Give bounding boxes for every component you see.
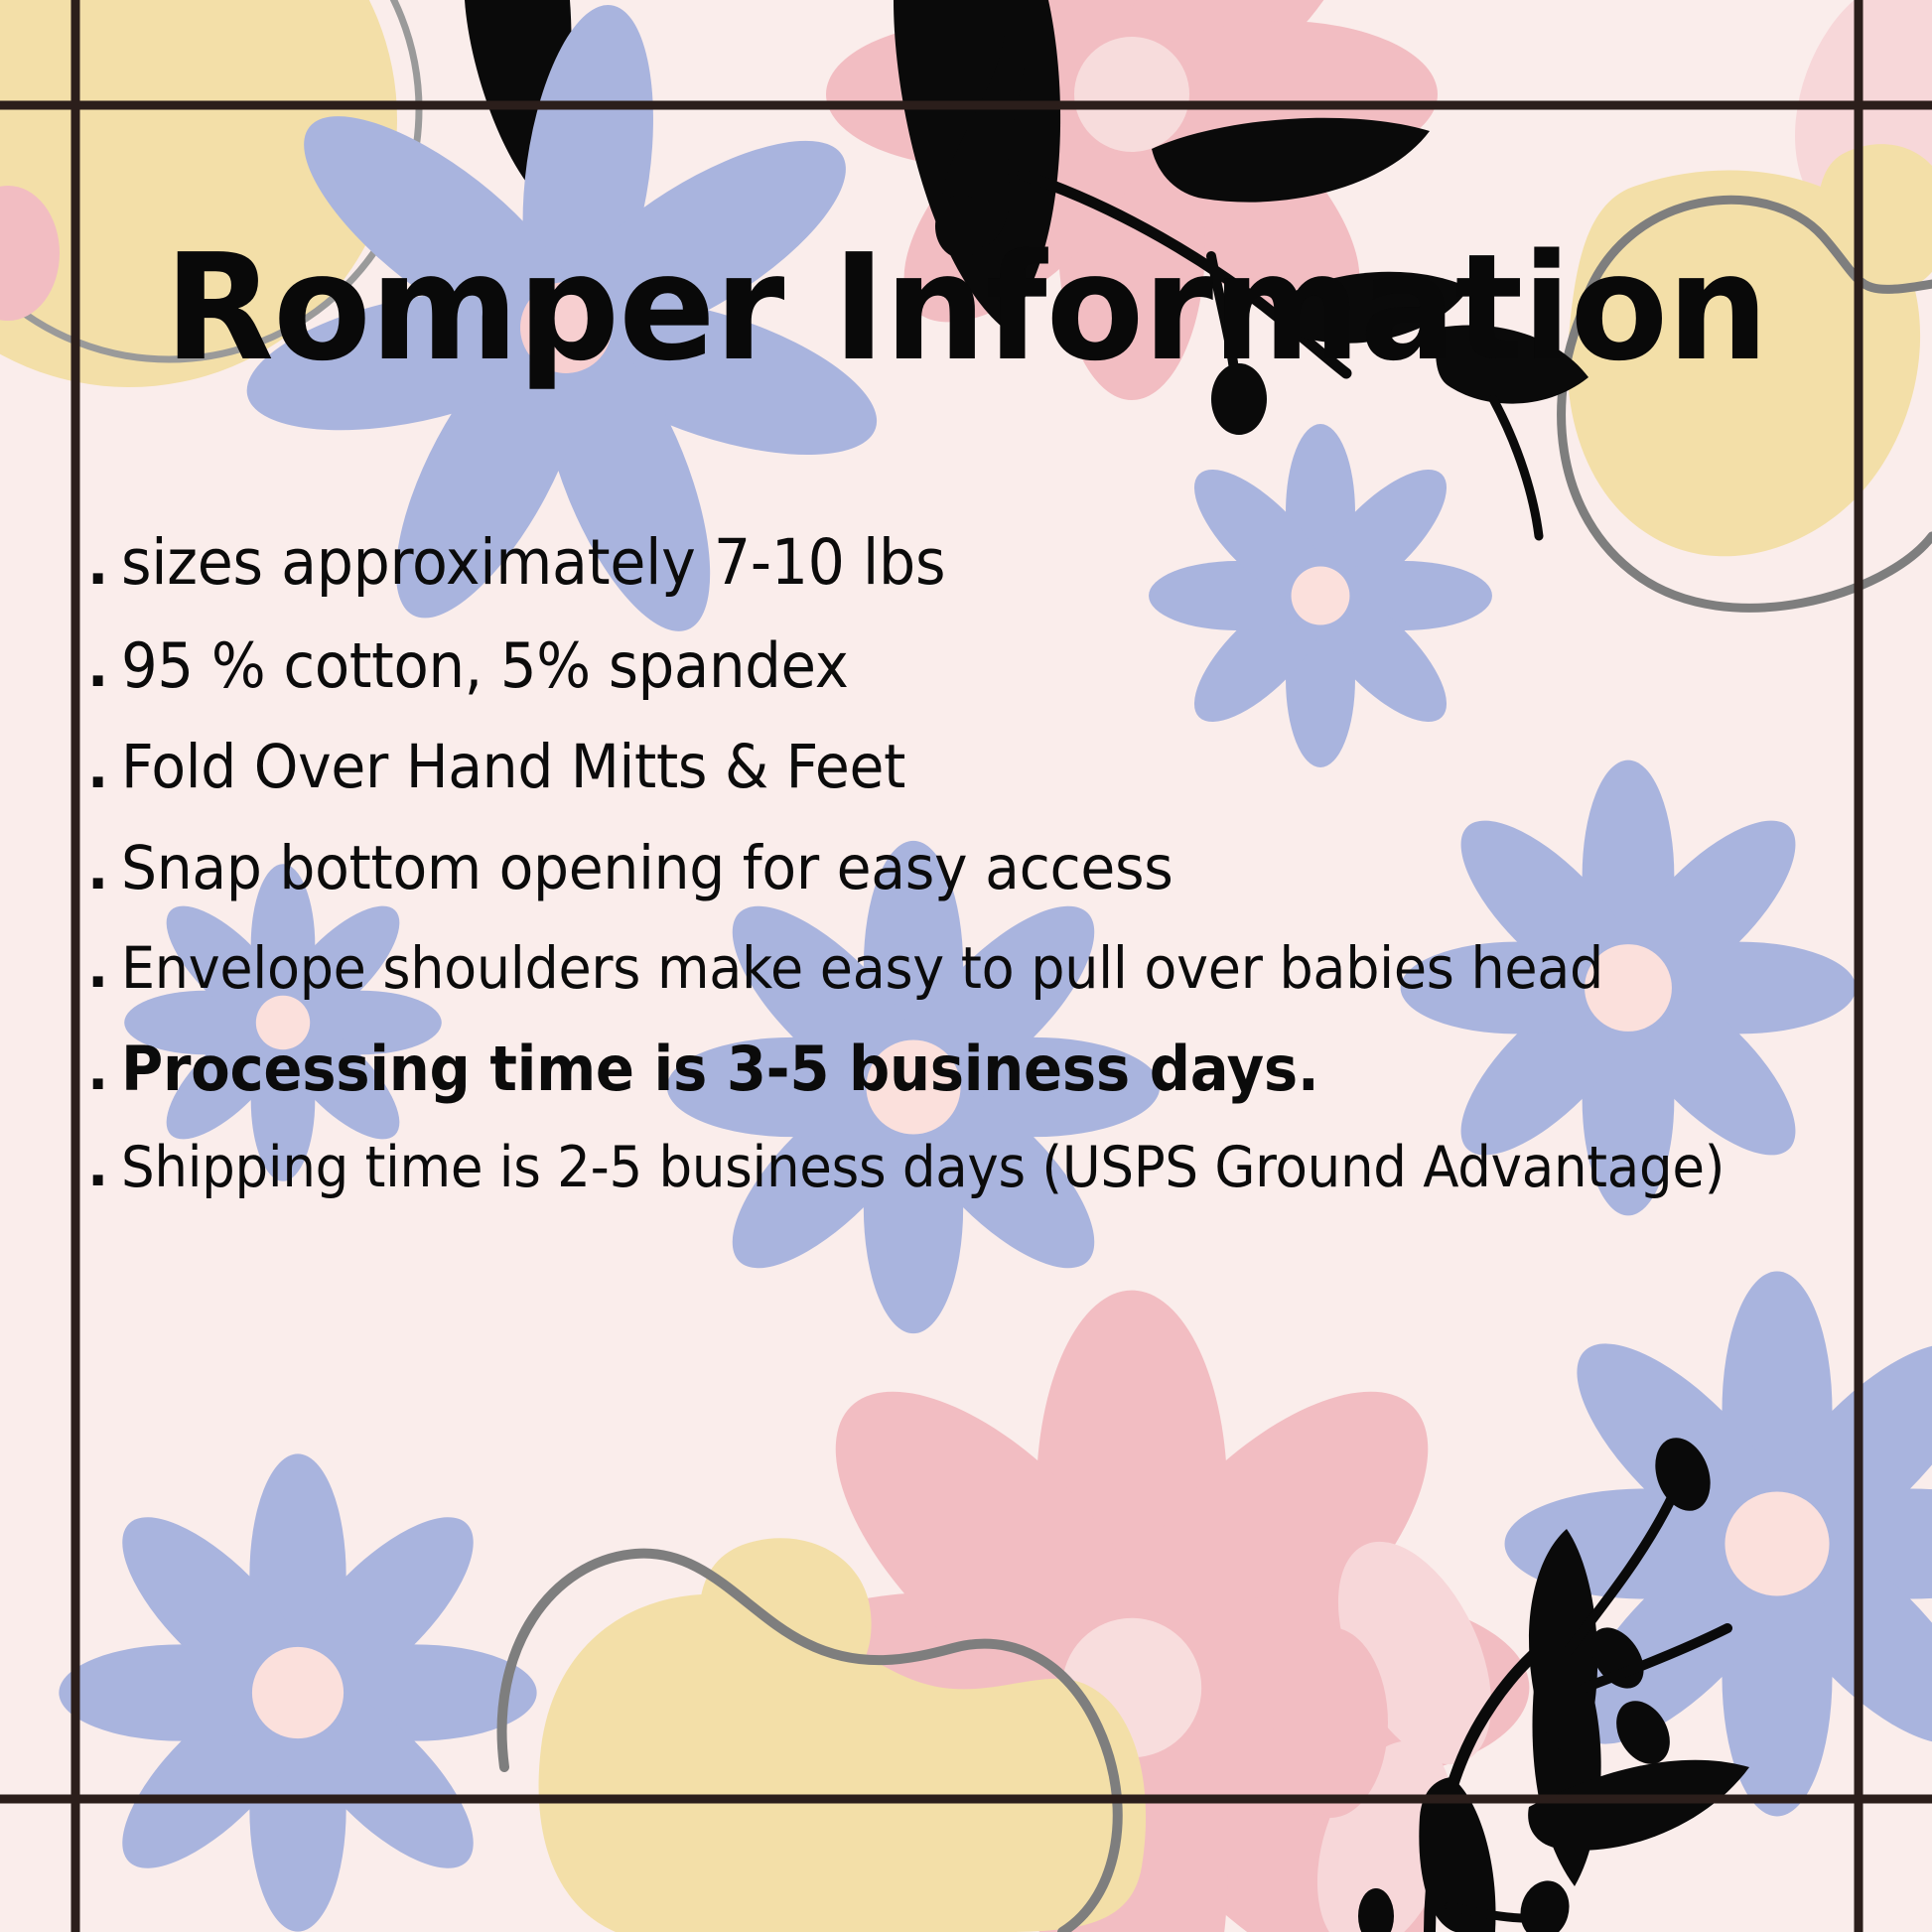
page-title: Romper Information xyxy=(29,234,1903,381)
romper-details-list: . sizes approximately 7-10 lbs . 95 % co… xyxy=(87,526,1874,1231)
list-item-label: Snap bottom opening for easy access xyxy=(121,833,1173,904)
bullet-marker-icon: . xyxy=(87,1140,121,1201)
list-item-label: Envelope shoulders make easy to pull ove… xyxy=(121,934,1603,1002)
list-item-label: sizes approximately 7-10 lbs xyxy=(121,526,945,600)
bullet-marker-icon: . xyxy=(87,538,121,600)
bullet-marker-icon: . xyxy=(87,640,121,702)
romper-information-poster: Romper Information . sizes approximately… xyxy=(0,0,1932,1932)
bullet-marker-icon: . xyxy=(87,941,121,1003)
list-item-label: Shipping time is 2-5 business days (USPS… xyxy=(121,1135,1725,1201)
list-item-label: 95 % cotton, 5% spandex xyxy=(121,629,849,702)
bullet-marker-icon: . xyxy=(87,843,121,904)
list-item: . 95 % cotton, 5% spandex xyxy=(87,629,1874,702)
list-item-label: Processing time is 3-5 business days. xyxy=(121,1033,1319,1105)
list-item: . Envelope shoulders make easy to pull o… xyxy=(87,934,1874,1002)
list-item: . sizes approximately 7-10 lbs xyxy=(87,526,1874,600)
list-item: . Shipping time is 2-5 business days (US… xyxy=(87,1135,1874,1201)
poster-content: Romper Information . sizes approximately… xyxy=(0,0,1932,1932)
list-item: . Fold Over Hand Mitts & Feet xyxy=(87,732,1874,803)
bullet-marker-icon: . xyxy=(87,1043,121,1105)
list-item-label: Fold Over Hand Mitts & Feet xyxy=(121,732,905,803)
list-item: . Snap bottom opening for easy access xyxy=(87,833,1874,904)
list-item: . Processing time is 3-5 business days. xyxy=(87,1033,1874,1105)
bullet-marker-icon: . xyxy=(87,742,121,803)
